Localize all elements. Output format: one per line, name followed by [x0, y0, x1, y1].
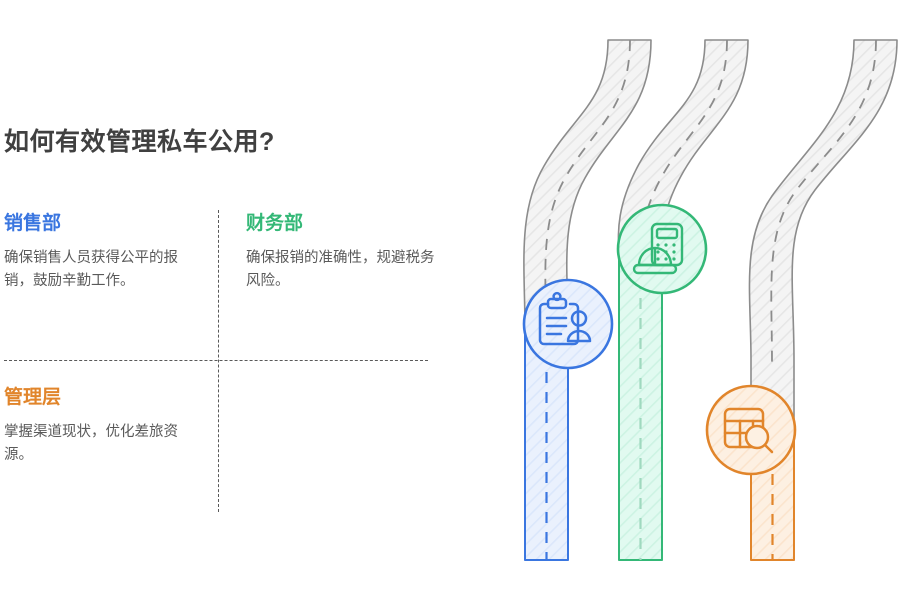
- left-content-panel: 如何有效管理私车公用? 销售部 确保销售人员获得公平的报销，鼓励辛勤工作。 财务…: [0, 0, 470, 590]
- lane-finance-marker[interactable]: [618, 205, 706, 293]
- quadrant-sales-heading: 销售部: [4, 214, 194, 235]
- quadrant-management-heading: 管理层: [4, 388, 194, 409]
- page-title: 如何有效管理私车公用?: [4, 122, 275, 158]
- divider-vertical: [218, 210, 219, 512]
- roads-illustration: [470, 0, 915, 590]
- divider-horizontal: [4, 360, 428, 361]
- quadrant-management-body: 掌握渠道现状，优化差旅资源。: [4, 421, 194, 468]
- lane-sales-marker[interactable]: [524, 280, 612, 368]
- quadrant-finance-body: 确保报销的准确性，规避税务风险。: [246, 247, 436, 294]
- lane-management-marker[interactable]: [707, 386, 795, 474]
- lane-sales-marker-circle[interactable]: [524, 280, 612, 368]
- quadrant-sales: 销售部 确保销售人员获得公平的报销，鼓励辛勤工作。: [4, 214, 194, 294]
- quadrant-sales-body: 确保销售人员获得公平的报销，鼓励辛勤工作。: [4, 247, 194, 294]
- lane-finance: [618, 40, 748, 560]
- quadrant-empty: [246, 388, 436, 400]
- quadrant-management: 管理层 掌握渠道现状，优化差旅资源。: [4, 388, 194, 468]
- lane-management: [707, 40, 897, 560]
- quadrant-finance: 财务部 确保报销的准确性，规避税务风险。: [246, 214, 436, 294]
- quadrant-finance-heading: 财务部: [246, 214, 436, 235]
